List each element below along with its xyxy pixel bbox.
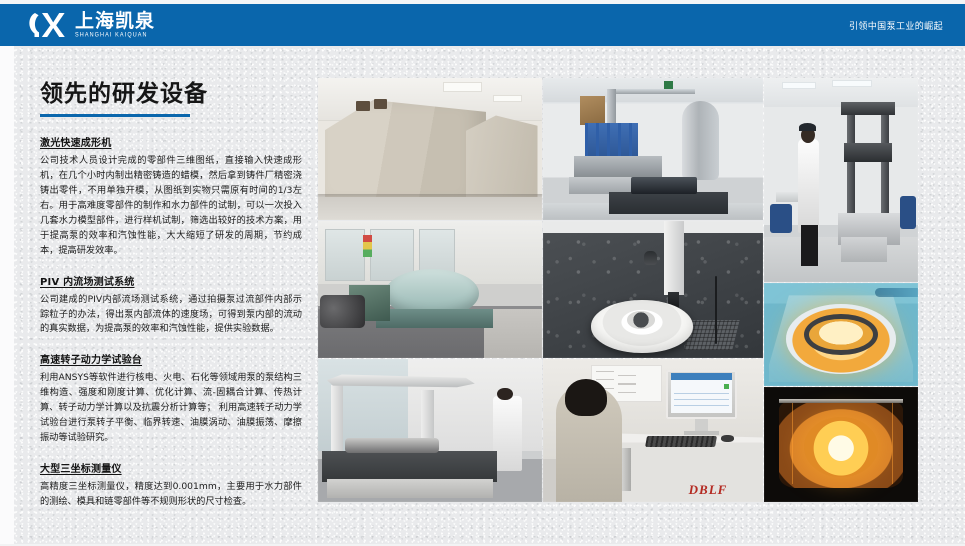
brand-name-cn: 上海凯泉 <box>75 12 155 31</box>
section-heading: 大型三坐标测量仪 <box>40 462 302 477</box>
site-header: 上海凯泉 SHANGHAI KAIQUAN 引领中国泵工业的崛起 <box>0 4 965 46</box>
slide-page: 上海凯泉 SHANGHAI KAIQUAN 引领中国泵工业的崛起 领先的研发设备… <box>0 0 965 546</box>
section-body: 公司建成的PIV内部流场测试系统，通过拍摄泵过流部件内部示踪粒子的办法，得出泵内… <box>40 293 302 338</box>
photo-dblf-balancing-operator: DBLF <box>543 359 763 502</box>
photo-laser-prototyping-machines <box>318 78 542 220</box>
brand-wordmark: 上海凯泉 SHANGHAI KAIQUAN <box>75 12 155 39</box>
photo-cmm-technician <box>318 359 542 502</box>
section-heading: 高速转子动力学试验台 <box>40 353 302 368</box>
section-heading: 激光快速成形机 <box>40 136 302 151</box>
section-piv-flow-test: PIV 内流场测试系统 公司建成的PIV内部流场测试系统，通过拍摄泵过流部件内部… <box>40 275 302 338</box>
photo-furnace-interior-glow <box>764 387 918 502</box>
photo-rotor-dynamics-bench <box>318 221 542 358</box>
section-body: 高精度三坐标测量仪，精度达到0.001mm，主要用于水力部件的测绘、模具和链零部… <box>40 480 302 510</box>
section-body: 公司技术人员设计完成的零部件三维图纸，直接输入快速成形机，在几个小时内制出精密铸… <box>40 154 302 258</box>
page-title: 领先的研发设备 <box>40 82 302 107</box>
section-rotor-dynamics: 高速转子动力学试验台 利用ANSYS等软件进行核电、火电、石化等领域用泵的泵结构… <box>40 353 302 446</box>
section-heading: PIV 内流场测试系统 <box>40 275 302 290</box>
photo-piv-test-rig <box>543 78 763 220</box>
balancing-machine-brand-label: DBLF <box>671 482 746 498</box>
photo-impeller-cmm-granite-table <box>543 221 763 358</box>
title-underline-rule <box>40 114 190 117</box>
brand-name-en: SHANGHAI KAIQUAN <box>75 33 155 39</box>
left-edge-strip <box>0 46 14 546</box>
content-text-column: 领先的研发设备 激光快速成形机 公司技术人员设计完成的零部件三维图纸，直接输入快… <box>40 82 302 510</box>
equipment-photo-collage: DBLF <box>318 78 918 502</box>
kaiquan-k-monogram-icon <box>26 10 68 40</box>
section-laser-prototyping: 激光快速成形机 公司技术人员设计完成的零部件三维图纸，直接输入快速成形机，在几个… <box>40 136 302 258</box>
photo-universal-testing-machine <box>764 78 918 282</box>
header-tagline: 引领中国泵工业的崛起 <box>849 19 943 32</box>
section-body: 利用ANSYS等软件进行核电、火电、石化等领域用泵的泵结构三维构造、强度和刚度计… <box>40 371 302 446</box>
brand-logo[interactable]: 上海凯泉 SHANGHAI KAIQUAN <box>26 10 155 40</box>
section-cmm: 大型三坐标测量仪 高精度三坐标测量仪，精度达到0.001mm，主要用于水力部件的… <box>40 462 302 510</box>
photo-glowing-ring-casting <box>764 283 918 386</box>
